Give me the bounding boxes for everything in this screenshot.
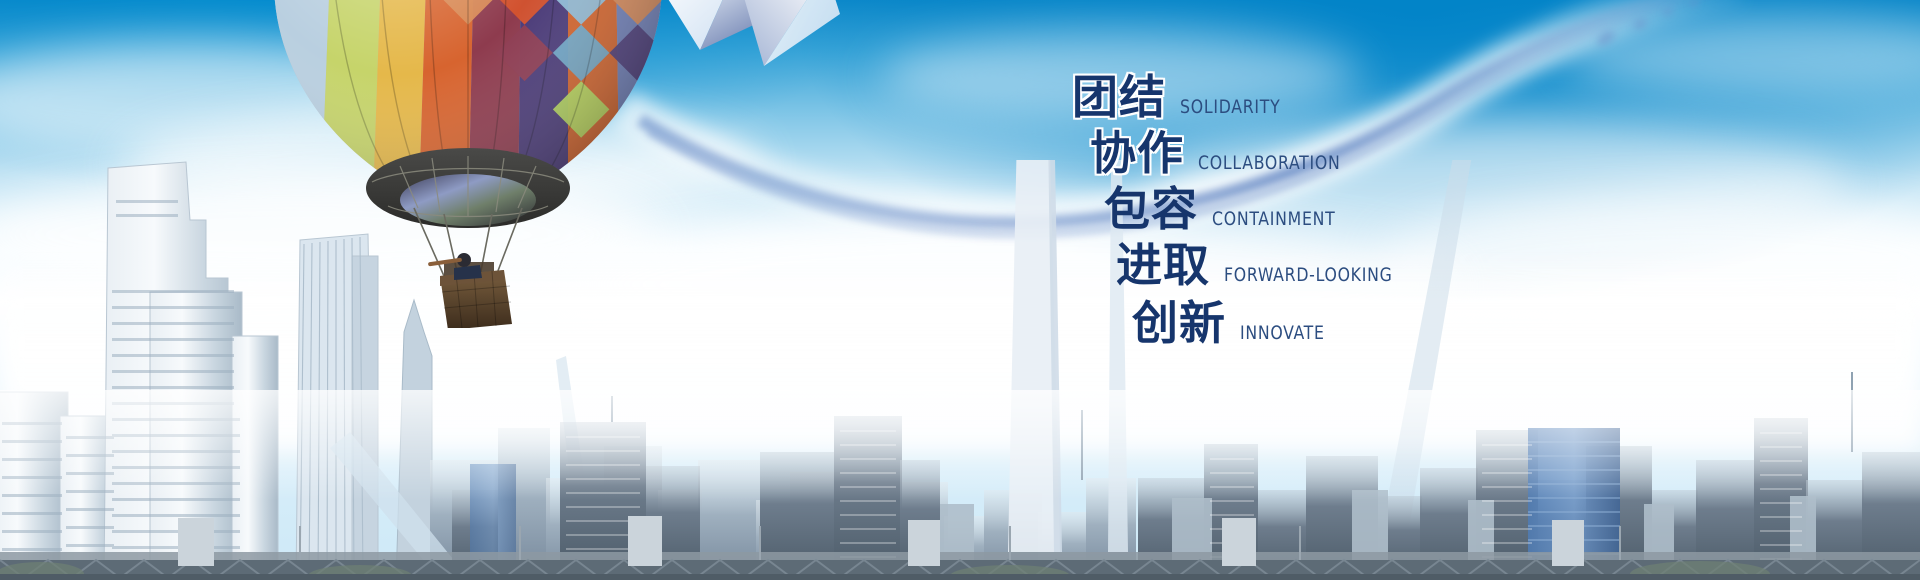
slogan-english-forward-looking: FORWARD-LOOKING (1224, 264, 1393, 286)
slogan-chinese-innovate: 创新 (1132, 300, 1226, 346)
culture-banner: 团结 SOLIDARITY 协作 COLLABORATION 包容 CONTAI… (0, 0, 1920, 580)
slogan-chinese-solidarity: 团结 (1072, 74, 1166, 120)
slogan-chinese-forward-looking: 进取 (1116, 242, 1210, 288)
slogan-item-forward-looking[interactable]: 进取 FORWARD-LOOKING (1116, 242, 1407, 288)
slogan-item-innovate[interactable]: 创新 INNOVATE (1132, 300, 1332, 346)
slogan-english-innovate: INNOVATE (1240, 322, 1325, 344)
slogan-chinese-containment: 包容 (1104, 186, 1198, 232)
slogan-english-solidarity: SOLIDARITY (1180, 96, 1280, 118)
slogan-item-collaboration[interactable]: 协作 COLLABORATION (1090, 130, 1353, 176)
city-skyline-icon (0, 160, 1920, 580)
slogan-item-containment[interactable]: 包容 CONTAINMENT (1104, 186, 1346, 232)
slogan-english-containment: CONTAINMENT (1212, 208, 1335, 230)
slogan-chinese-collaboration: 协作 (1090, 130, 1184, 176)
paper-sail-icon (640, 0, 900, 110)
slogan-english-collaboration: COLLABORATION (1198, 152, 1340, 174)
slogan-item-solidarity[interactable]: 团结 SOLIDARITY (1072, 74, 1289, 120)
